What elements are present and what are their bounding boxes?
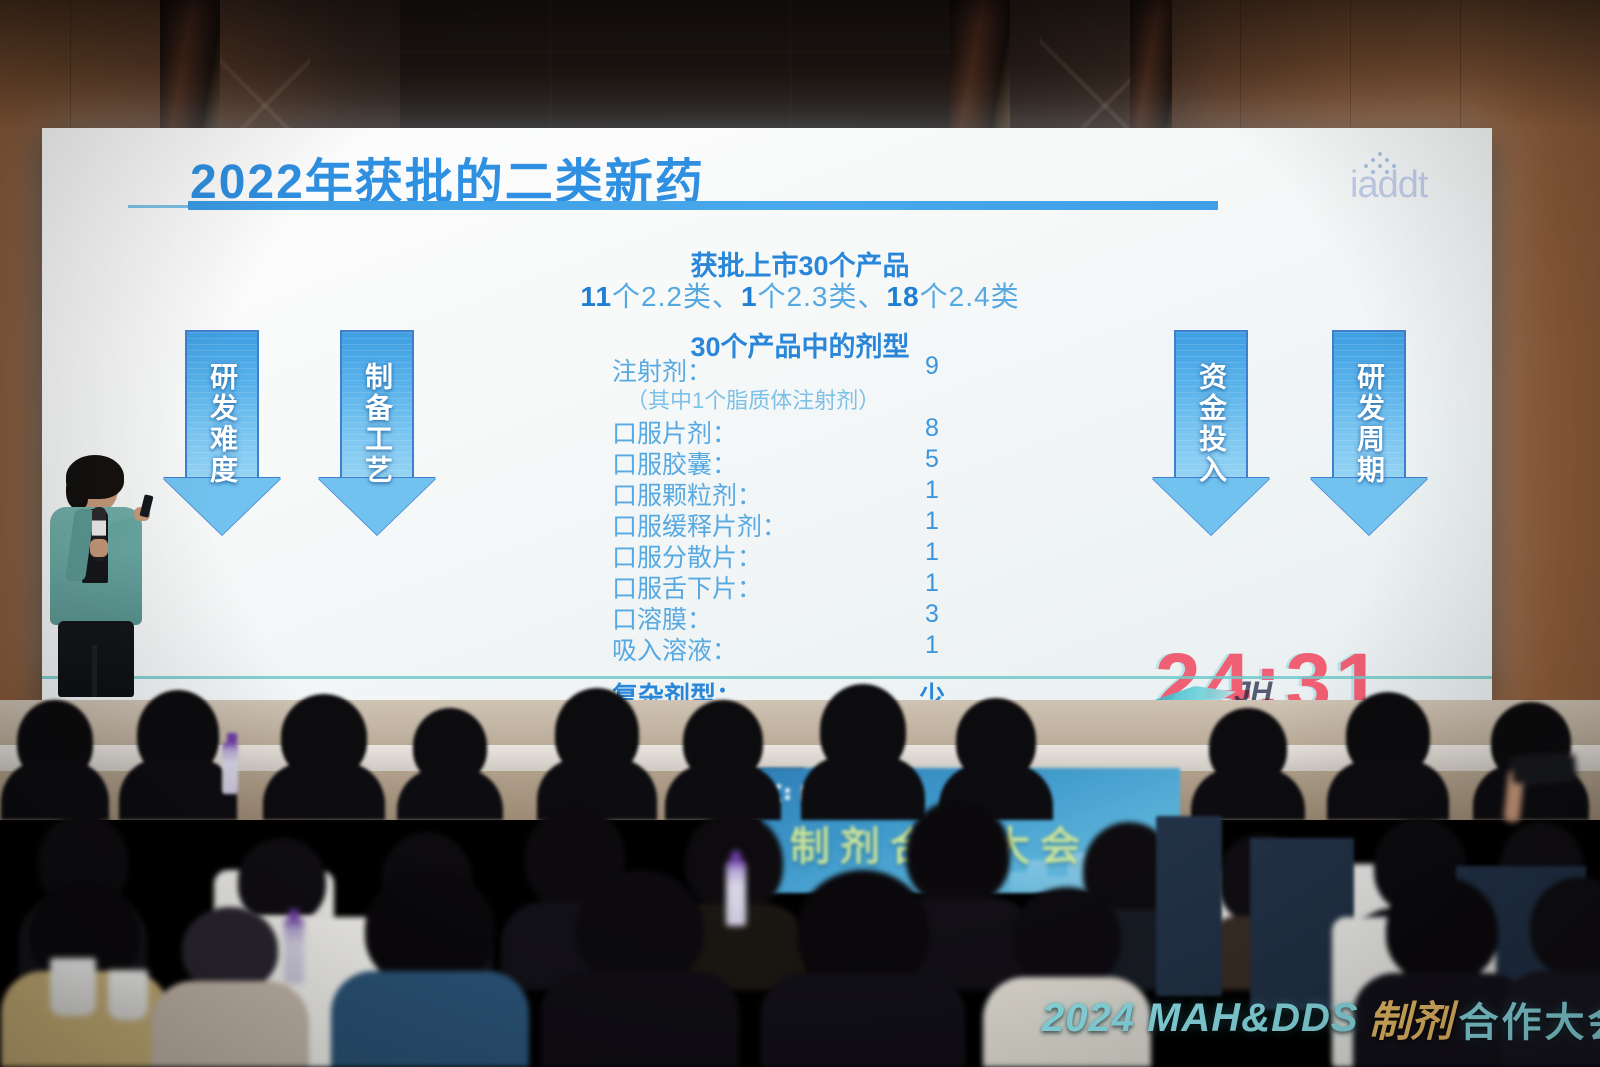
logo-wordmark: iaddt xyxy=(1350,164,1427,207)
audience-member xyxy=(760,870,966,1067)
arrow-manufacturing-process: 制备工艺 xyxy=(318,330,436,535)
arrow-label: 研发周期 xyxy=(1310,362,1428,486)
presenter-hair-side xyxy=(66,475,88,509)
audience-member xyxy=(540,870,740,1067)
class-22-count: 11 xyxy=(580,281,612,312)
approval-class-breakdown: 11个2.2类、1个2.3类、18个2.4类 xyxy=(0,275,1600,315)
title-underline-bar xyxy=(188,201,1218,210)
dosage-row: 口溶膜： 3 xyxy=(612,600,952,631)
dosage-row-note: （其中1个脂质体注射剂） xyxy=(612,383,952,414)
dosage-row: 口服片剂： 8 xyxy=(612,414,952,445)
arrow-down-icon xyxy=(1152,478,1270,535)
dosage-row: 口服舌下片： 1 xyxy=(612,569,952,600)
arrow-label: 资金投入 xyxy=(1152,362,1270,486)
arrow-down-icon xyxy=(1310,478,1428,535)
smartphone-recording xyxy=(1511,754,1577,784)
presentation-clicker xyxy=(139,494,153,518)
arrow-label: 研发难度 xyxy=(163,362,281,486)
class-24-label: 个2.4类 xyxy=(920,281,1020,312)
arrow-down-icon xyxy=(318,478,436,535)
presenter-speaker xyxy=(30,455,160,695)
dosage-value: 1 xyxy=(912,538,952,567)
arrow-label: 制备工艺 xyxy=(318,362,436,486)
presenter-mic-hand xyxy=(90,539,108,557)
dosage-row: 注射剂： 9 xyxy=(612,352,952,383)
dosage-row: 口服颗粒剂： 1 xyxy=(612,476,952,507)
arrow-rd-difficulty: 研发难度 xyxy=(163,330,281,535)
dosage-row: 口服分散片： 1 xyxy=(612,538,952,569)
class-22-label: 个2.2类、 xyxy=(612,281,741,312)
dosage-value: 9 xyxy=(912,352,952,381)
event-watermark: 2024 MAH&DDS制剂合作大会 xyxy=(1042,988,1600,1034)
dosage-row: 口服胶囊： 5 xyxy=(612,445,952,476)
dosage-value: 1 xyxy=(912,569,952,598)
dosage-value: 3 xyxy=(912,600,952,629)
audience-member xyxy=(330,870,530,1067)
water-bottle xyxy=(222,742,238,794)
audience-row-front xyxy=(0,870,1600,1067)
class-23-label: 个2.3类、 xyxy=(758,281,887,312)
watermark-cn-block: 合作大会 xyxy=(1459,990,1600,1048)
conference-photo: 2022年获批的二类新药 iaddt 获批上市30个产品 11个2.2类、1个2… xyxy=(0,0,1600,1067)
iaddt-logo: iaddt xyxy=(1336,152,1486,210)
class-23-count: 1 xyxy=(741,281,758,312)
dosage-value: 1 xyxy=(912,476,952,505)
paper-cup xyxy=(50,958,96,1016)
class-24-count: 18 xyxy=(886,281,919,312)
dosage-value: 8 xyxy=(912,414,952,443)
watermark-year-brand: 2024 MAH&DDS xyxy=(1042,996,1359,1041)
watermark-cn-italic: 制剂 xyxy=(1369,988,1453,1049)
dosage-value: 5 xyxy=(912,445,952,474)
dosage-note: （其中1个脂质体注射剂） xyxy=(626,383,880,415)
dosage-value: 1 xyxy=(912,631,952,660)
water-bottle xyxy=(284,918,304,984)
paper-cup xyxy=(108,970,148,1020)
arrow-down-icon xyxy=(163,478,281,535)
dosage-row: 吸入溶液： 1 xyxy=(612,631,952,662)
water-bottle xyxy=(726,860,746,926)
dosage-value: 1 xyxy=(912,507,952,536)
arrow-capital-investment: 资金投入 xyxy=(1152,330,1270,535)
arrow-rd-cycle: 研发周期 xyxy=(1310,330,1428,535)
dosage-row: 口服缓释片剂： 1 xyxy=(612,507,952,538)
